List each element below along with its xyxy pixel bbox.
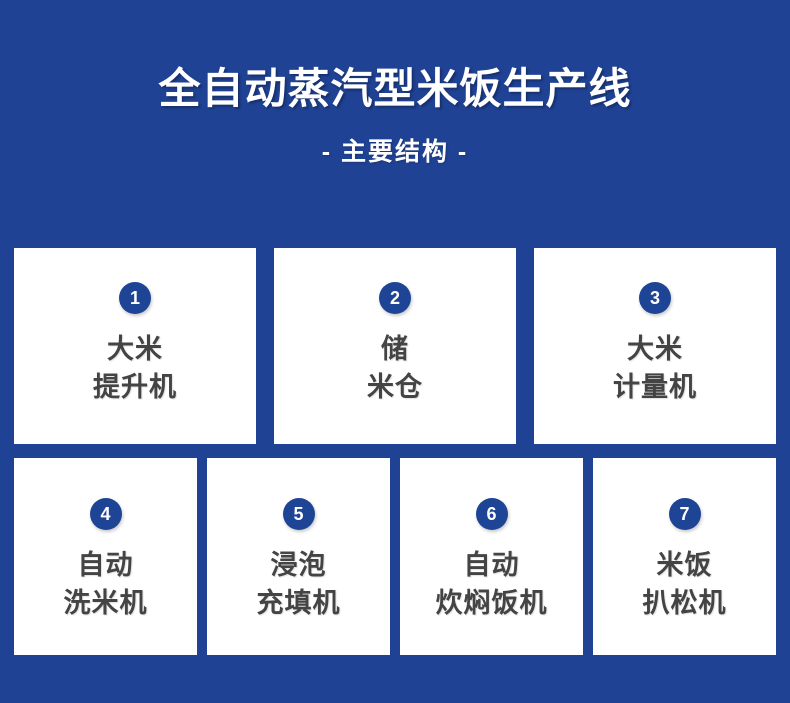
label-line-2: 炊焖饭机 bbox=[436, 584, 548, 622]
step-number-badge: 6 bbox=[476, 498, 508, 530]
card-row-2: 4 自动 洗米机 5 浸泡 充填机 6 自动 炊焖饭机 bbox=[14, 458, 776, 655]
step-number-badge: 3 bbox=[639, 282, 671, 314]
label-line-2: 米仓 bbox=[367, 368, 423, 406]
structure-card-label: 大米 提升机 bbox=[93, 330, 177, 407]
label-line-2: 洗米机 bbox=[64, 584, 148, 622]
step-number-badge: 5 bbox=[283, 498, 315, 530]
structure-card-label: 浸泡 充填机 bbox=[257, 546, 341, 623]
label-line-1: 大米 bbox=[613, 330, 697, 368]
page-title: 全自动蒸汽型米饭生产线 bbox=[0, 66, 790, 112]
step-number-badge: 7 bbox=[669, 498, 701, 530]
label-line-1: 储 bbox=[367, 330, 423, 368]
label-line-2: 计量机 bbox=[613, 368, 697, 406]
label-line-2: 扒松机 bbox=[643, 584, 727, 622]
structure-card-4[interactable]: 4 自动 洗米机 bbox=[14, 458, 197, 655]
label-line-1: 米饭 bbox=[643, 546, 727, 584]
structure-card-label: 米饭 扒松机 bbox=[643, 546, 727, 623]
structure-card-label: 自动 洗米机 bbox=[64, 546, 148, 623]
structure-card-label: 自动 炊焖饭机 bbox=[436, 546, 548, 623]
card-row-1: 1 大米 提升机 2 储 米仓 3 大米 计量机 bbox=[14, 248, 776, 444]
page-subtitle: - 主要结构 - bbox=[0, 132, 790, 168]
structure-card-3[interactable]: 3 大米 计量机 bbox=[534, 248, 776, 444]
structure-card-grid: 1 大米 提升机 2 储 米仓 3 大米 计量机 bbox=[14, 248, 776, 655]
structure-card-1[interactable]: 1 大米 提升机 bbox=[14, 248, 256, 444]
label-line-2: 充填机 bbox=[257, 584, 341, 622]
structure-card-label: 储 米仓 bbox=[367, 330, 423, 407]
structure-card-7[interactable]: 7 米饭 扒松机 bbox=[593, 458, 776, 655]
structure-card-label: 大米 计量机 bbox=[613, 330, 697, 407]
step-number-badge: 2 bbox=[379, 282, 411, 314]
poster-header: 全自动蒸汽型米饭生产线 - 主要结构 - bbox=[0, 0, 790, 168]
poster-root: 全自动蒸汽型米饭生产线 - 主要结构 - 1 大米 提升机 2 储 米仓 3 bbox=[0, 0, 790, 703]
structure-card-5[interactable]: 5 浸泡 充填机 bbox=[207, 458, 390, 655]
step-number-badge: 1 bbox=[119, 282, 151, 314]
label-line-2: 提升机 bbox=[93, 368, 177, 406]
label-line-1: 浸泡 bbox=[257, 546, 341, 584]
structure-card-2[interactable]: 2 储 米仓 bbox=[274, 248, 516, 444]
label-line-1: 大米 bbox=[93, 330, 177, 368]
label-line-1: 自动 bbox=[64, 546, 148, 584]
structure-card-6[interactable]: 6 自动 炊焖饭机 bbox=[400, 458, 583, 655]
label-line-1: 自动 bbox=[436, 546, 548, 584]
step-number-badge: 4 bbox=[90, 498, 122, 530]
